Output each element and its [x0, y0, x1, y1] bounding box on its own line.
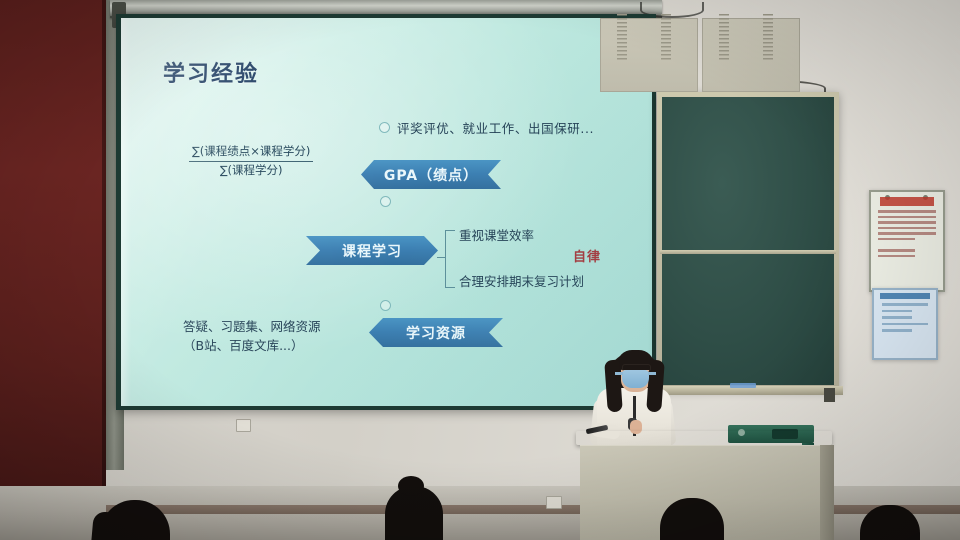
brace-stem-icon [437, 257, 446, 258]
formula-denominator: ∑(课程学分) [189, 162, 313, 179]
podium-side-panel [820, 445, 834, 540]
podium-panel [600, 18, 698, 92]
wall-outlet-icon [546, 496, 562, 509]
audience-head [90, 511, 120, 540]
screen-left-glare [121, 18, 131, 406]
brace-icon [445, 230, 455, 288]
blackboard-surface [662, 97, 834, 385]
blackboard-frame [657, 92, 839, 390]
slide-title: 学习经验 [163, 56, 259, 88]
vent-grill-icon [661, 14, 671, 62]
poster-text-line [878, 227, 936, 230]
poster-text-line [878, 238, 915, 241]
highlight-word: 自律 [573, 246, 601, 265]
wall-notice-poster [869, 190, 945, 292]
wall-info-poster [872, 288, 938, 360]
podium-panel [702, 18, 800, 92]
vent-grill-icon [763, 14, 773, 62]
banner-course-study: 课程学习 [306, 236, 438, 265]
blackboard-divider [660, 250, 836, 254]
resource-line-2: （B站、百度文库...） [183, 337, 321, 356]
poster-header-bar [880, 293, 930, 299]
poster-title-bar [880, 197, 934, 206]
slide-bullet-text: 评奖评优、就业工作、出国保研... [397, 118, 594, 137]
blackboard-bracket [824, 388, 835, 402]
vent-grill-icon [719, 14, 729, 62]
poster-text-line [882, 323, 928, 326]
banner-gpa: GPA（绩点） [361, 160, 501, 189]
course-item-1: 合理安排期末复习计划 [459, 276, 584, 289]
bullet-ring-icon [379, 122, 390, 133]
poster-text-line [882, 316, 912, 319]
classroom-screenshot: 学习经验 评奖评优、就业工作、出国保研... ∑(课程绩点×课程学分) ∑(课程… [0, 0, 960, 540]
vent-grill-icon [617, 14, 627, 62]
podium-desktop [576, 431, 832, 445]
projection-screen: 学习经验 评奖评优、就业工作、出国保研... ∑(课程绩点×课程学分) ∑(课程… [121, 18, 652, 406]
gpa-formula: ∑(课程绩点×课程学分) ∑(课程学分) [189, 144, 313, 178]
wall-outlet-icon [236, 419, 251, 432]
eraser-icon [730, 383, 756, 388]
poster-text-line [878, 216, 936, 219]
poster-text-line [882, 310, 912, 313]
poster-text-line [878, 255, 915, 258]
resource-text: 答疑、习题集、网络资源 （B站、百度文库...） [183, 318, 321, 356]
connector-ring-icon [380, 196, 391, 207]
poster-text-line [878, 210, 936, 213]
face-mask-icon [622, 370, 649, 388]
poster-text-line [878, 232, 936, 235]
course-item-0: 重视课堂效率 [459, 230, 534, 243]
left-side-wall [0, 0, 106, 486]
formula-numerator: ∑(课程绩点×课程学分) [189, 144, 313, 162]
poster-text-line [882, 329, 912, 332]
connector-ring-icon [380, 300, 391, 311]
poster-text-line [882, 303, 928, 306]
slide-bullet-row: 评奖评优、就业工作、出国保研... [379, 118, 594, 137]
mask-strap [648, 372, 656, 375]
poster-text-line [878, 221, 936, 224]
audience-hair-bun [398, 476, 424, 496]
mask-strap [615, 372, 623, 375]
poster-text-line [878, 249, 915, 252]
banner-learning-resources: 学习资源 [369, 318, 503, 347]
resource-line-1: 答疑、习题集、网络资源 [183, 318, 321, 337]
